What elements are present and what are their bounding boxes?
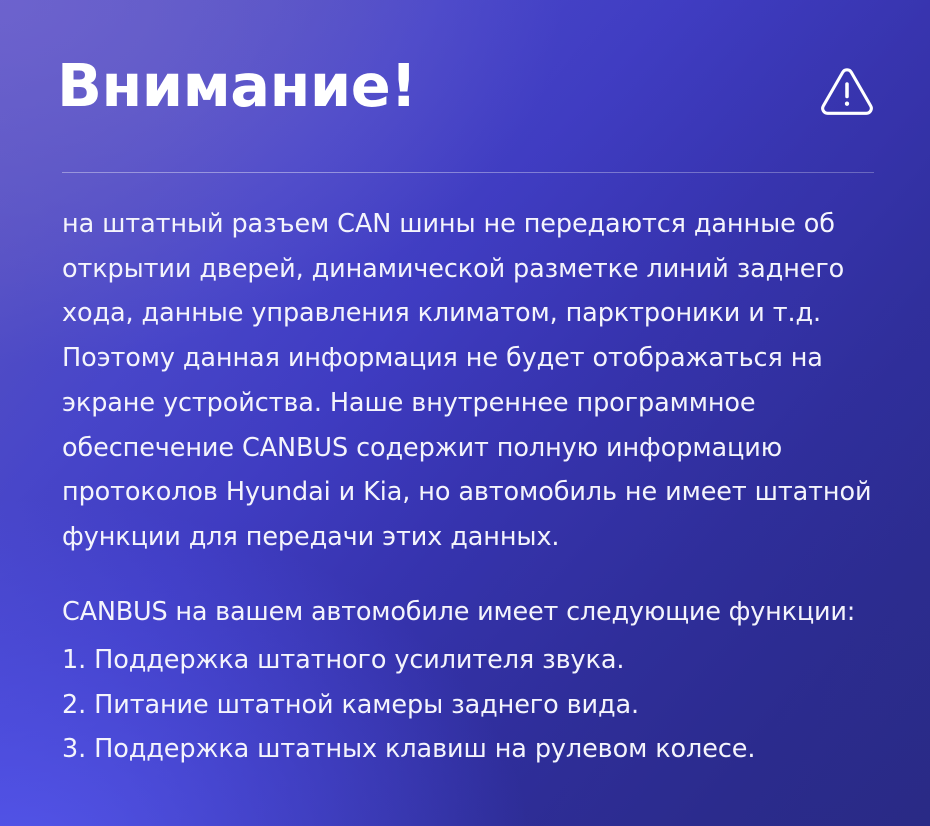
features-list: 1. Поддержка штатного усилителя звука. 2… <box>62 638 880 772</box>
warning-notice-poster: Внимание! на штатный разъем CAN шины не … <box>0 0 930 826</box>
list-item-label: Питание штатной камеры заднего вида. <box>94 690 639 720</box>
poster-header: Внимание! <box>57 52 884 144</box>
features-section: CANBUS на вашем автомобиле имеет следующ… <box>62 590 880 772</box>
notice-paragraph: на штатный разъем CAN шины не передаются… <box>62 202 880 560</box>
page-title: Внимание! <box>57 52 417 115</box>
header-divider <box>62 172 874 173</box>
list-item-number: 3. <box>62 734 86 764</box>
list-item-number: 2. <box>62 690 86 720</box>
list-item: 2. Питание штатной камеры заднего вида. <box>62 683 880 728</box>
body-paragraphs: на штатный разъем CAN шины не передаются… <box>62 202 880 560</box>
features-intro: CANBUS на вашем автомобиле имеет следующ… <box>62 590 880 634</box>
warning-icon-wrapper <box>818 52 884 120</box>
list-item-number: 1. <box>62 645 86 675</box>
list-item-label: Поддержка штатного усилителя звука. <box>94 645 624 675</box>
list-item-label: Поддержка штатных клавиш на рулевом коле… <box>94 734 755 764</box>
list-item: 3. Поддержка штатных клавиш на рулевом к… <box>62 727 880 772</box>
warning-triangle-icon <box>818 62 876 120</box>
list-item: 1. Поддержка штатного усилителя звука. <box>62 638 880 683</box>
